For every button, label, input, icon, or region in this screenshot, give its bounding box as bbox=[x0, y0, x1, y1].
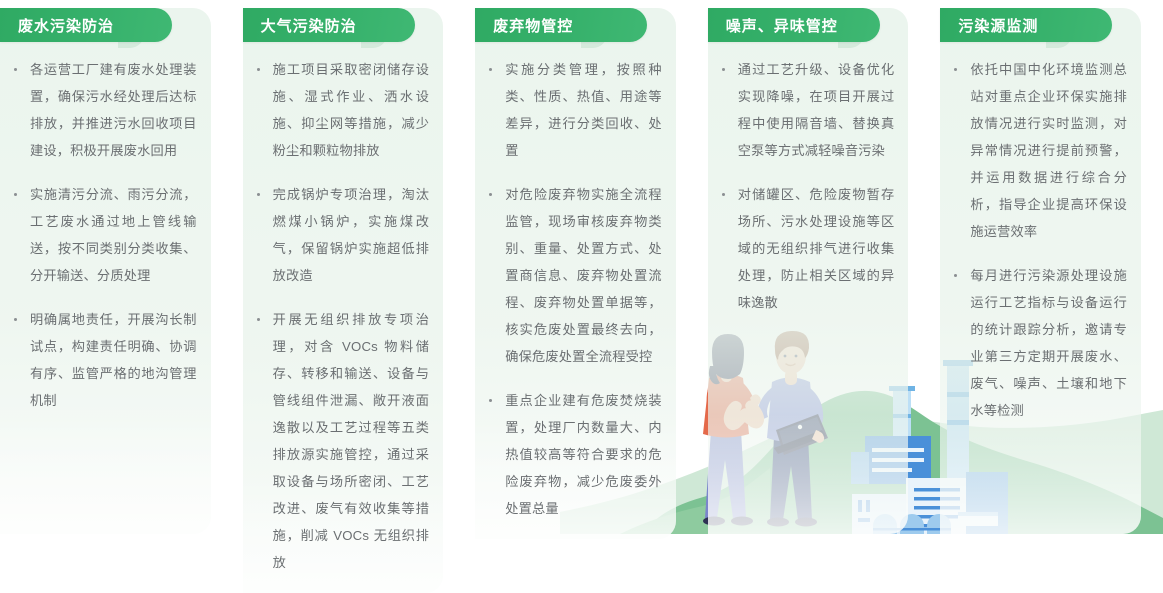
bullet-list-waste: 实施分类管理，按照种类、性质、热值、用途等差异，进行分类回收、处置 对危险废弃物… bbox=[475, 8, 676, 522]
card-waste: 废弃物管控 实施分类管理，按照种类、性质、热值、用途等差异，进行分类回收、处置 … bbox=[475, 8, 676, 539]
list-item: 明确属地责任，开展沟长制试点，构建责任明确、协调有序、监管严格的地沟管理机制 bbox=[8, 306, 197, 414]
column-air: 大气污染防治 施工项目采取密闭储存设施、湿式作业、洒水设施、抑尘网等措施，减少粉… bbox=[233, 0, 466, 534]
list-item: 通过工艺升级、设备优化实现降噪，在项目开展过程中使用隔音墙、替换真空泵等方式减轻… bbox=[716, 56, 895, 164]
list-item: 完成锅炉专项治理，淘汰燃煤小锅炉，实施煤改气，保留锅炉实施超低排放改造 bbox=[251, 181, 430, 289]
bullet-list-source-monitoring: 依托中国中化环境监测总站对重点企业环保实施排放情况进行实时监测，对异常情况进行提… bbox=[940, 8, 1141, 424]
list-item: 实施清污分流、雨污分流，工艺废水通过地上管线输送，按不同类别分类收集、分开输送、… bbox=[8, 181, 197, 289]
list-item: 实施分类管理，按照种类、性质、热值、用途等差异，进行分类回收、处置 bbox=[483, 56, 662, 164]
list-item: 每月进行污染源处理设施运行工艺指标与设备运行的统计跟踪分析，邀请专业第三方定期开… bbox=[948, 262, 1127, 424]
card-noise-odor: 噪声、异味管控 通过工艺升级、设备优化实现降噪，在项目开展过程中使用隔音墙、替换… bbox=[708, 8, 909, 534]
card-wastewater: 废水污染防治 各运营工厂建有废水处理装置，确保污水经处理后达标排放，并推进污水回… bbox=[0, 8, 211, 534]
column-source-monitoring: 污染源监测 依托中国中化环境监测总站对重点企业环保实施排放情况进行实时监测，对异… bbox=[930, 0, 1163, 534]
card-source-monitoring: 污染源监测 依托中国中化环境监测总站对重点企业环保实施排放情况进行实时监测，对异… bbox=[940, 8, 1141, 534]
bullet-list-wastewater: 各运营工厂建有废水处理装置，确保污水经处理后达标排放，并推进污水回收项目建设，积… bbox=[0, 8, 211, 414]
list-item: 各运营工厂建有废水处理装置，确保污水经处理后达标排放，并推进污水回收项目建设，积… bbox=[8, 56, 197, 164]
list-item: 施工项目采取密闭储存设施、湿式作业、洒水设施、抑尘网等措施，减少粉尘和颗粒物排放 bbox=[251, 56, 430, 164]
bullet-list-noise-odor: 通过工艺升级、设备优化实现降噪，在项目开展过程中使用隔音墙、替换真空泵等方式减轻… bbox=[708, 8, 909, 316]
list-item: 依托中国中化环境监测总站对重点企业环保实施排放情况进行实时监测，对异常情况进行提… bbox=[948, 56, 1127, 245]
bullet-list-air: 施工项目采取密闭储存设施、湿式作业、洒水设施、抑尘网等措施，减少粉尘和颗粒物排放… bbox=[243, 8, 444, 576]
column-wastewater: 废水污染防治 各运营工厂建有废水处理装置，确保污水经处理后达标排放，并推进污水回… bbox=[0, 0, 233, 534]
column-waste: 废弃物管控 实施分类管理，按照种类、性质、热值、用途等差异，进行分类回收、处置 … bbox=[465, 0, 698, 534]
list-item: 重点企业建有危废焚烧装置，处理厂内数量大、内热值较高等符合要求的危险废弃物，减少… bbox=[483, 387, 662, 522]
list-item: 开展无组织排放专项治理，对含 VOCs 物料储存、转移和输送、设备与管线组件泄漏… bbox=[251, 306, 430, 576]
list-item: 对危险废弃物实施全流程监管，现场审核废弃物类别、重量、处置方式、处置商信息、废弃… bbox=[483, 181, 662, 370]
list-item: 对储罐区、危险废物暂存场所、污水处理设施等区域的无组织排气进行收集处理，防止相关… bbox=[716, 181, 895, 316]
card-air: 大气污染防治 施工项目采取密闭储存设施、湿式作业、洒水设施、抑尘网等措施，减少粉… bbox=[243, 8, 444, 593]
column-noise-odor: 噪声、异味管控 通过工艺升级、设备优化实现降噪，在项目开展过程中使用隔音墙、替换… bbox=[698, 0, 931, 534]
measures-board: 废水污染防治 各运营工厂建有废水处理装置，确保污水经处理后达标排放，并推进污水回… bbox=[0, 0, 1163, 534]
